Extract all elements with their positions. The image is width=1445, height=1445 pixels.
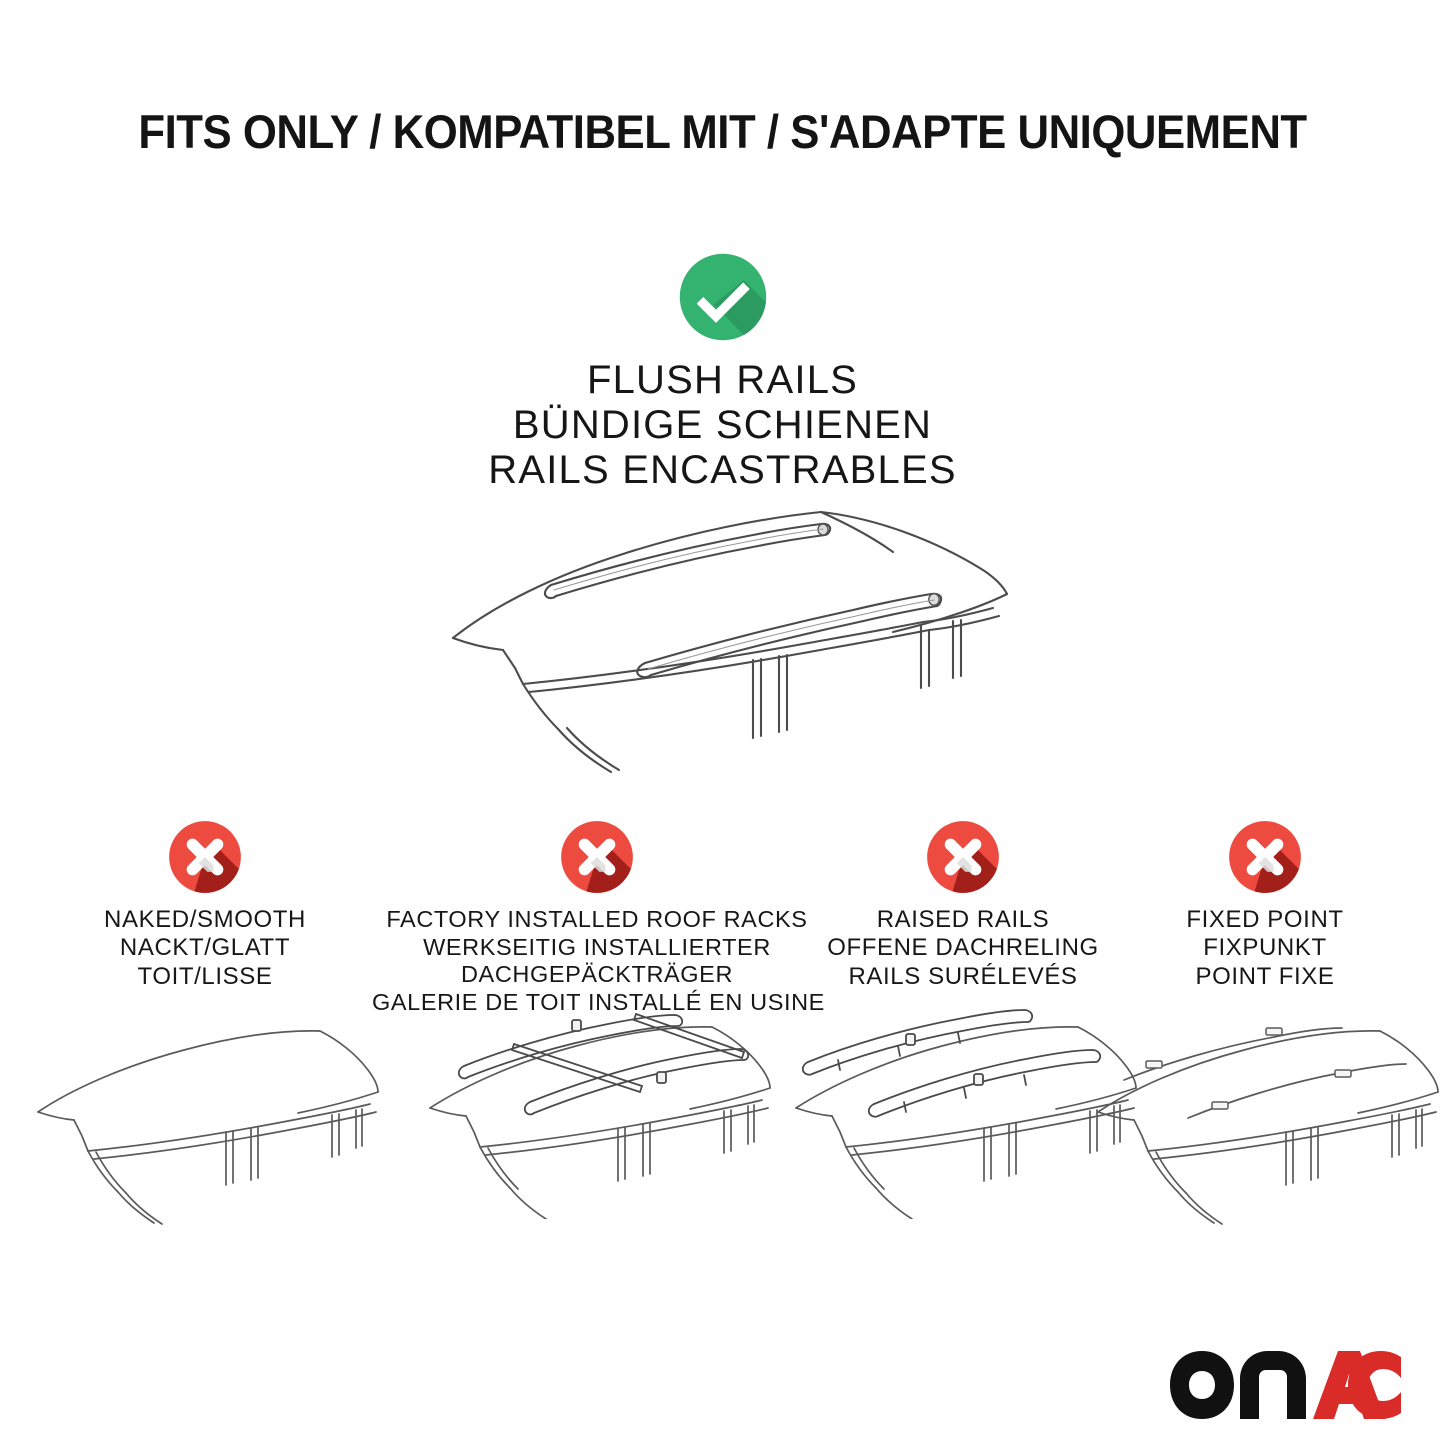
page-title: FITS ONLY / KOMPATIBEL MIT / S'ADAPTE UN… bbox=[51, 104, 1395, 159]
omac-logo-mark bbox=[1168, 1349, 1403, 1423]
red-x-circle-icon bbox=[166, 818, 244, 896]
label-line-3: DACHGEPÄCKTRÄGER bbox=[372, 961, 822, 989]
label-line-1: RAISED RAILS bbox=[818, 906, 1108, 934]
green-check-circle-icon bbox=[676, 250, 770, 344]
label-line-2: FIXPUNKT bbox=[1130, 934, 1400, 962]
car-roof-factory-roof-racks-illustration bbox=[412, 1004, 782, 1219]
incompatible-item-naked-smooth: NAKED/SMOOTH NACKT/GLATT TOIT/LISSE bbox=[25, 818, 385, 991]
label-line-2: WERKSEITIG INSTALLIERTER bbox=[372, 934, 822, 962]
label-line-1: NAKED/SMOOTH bbox=[25, 906, 385, 934]
compatible-label: FLUSH RAILS BÜNDIGE SCHIENEN RAILS ENCAS… bbox=[0, 358, 1445, 494]
logo-letter-m bbox=[1240, 1351, 1306, 1419]
incompatible-label-factory-roof-racks: FACTORY INSTALLED ROOF RACKS WERKSEITIG … bbox=[372, 906, 822, 1017]
label-line-3: RAILS SURÉLEVÉS bbox=[818, 963, 1108, 991]
incompatible-label-fixed-point: FIXED POINT FIXPUNKT POINT FIXE bbox=[1130, 906, 1400, 991]
label-line-3: POINT FIXE bbox=[1130, 963, 1400, 991]
incompatible-item-raised-rails: RAISED RAILS OFFENE DACHRELING RAILS SUR… bbox=[818, 818, 1108, 991]
car-roof-naked-smooth-illustration bbox=[20, 1014, 390, 1229]
label-line-2: OFFENE DACHRELING bbox=[818, 934, 1108, 962]
incompatible-item-fixed-point: FIXED POINT FIXPUNKT POINT FIXE bbox=[1130, 818, 1400, 991]
logo-letter-o bbox=[1170, 1351, 1234, 1419]
label-line-3: TOIT/LISSE bbox=[25, 963, 385, 991]
red-x-circle-icon bbox=[1226, 818, 1304, 896]
red-x-circle-icon bbox=[924, 818, 1002, 896]
compatible-label-line-1: FLUSH RAILS bbox=[0, 358, 1445, 403]
label-line-2: NACKT/GLATT bbox=[25, 934, 385, 962]
label-line-1: FACTORY INSTALLED ROOF RACKS bbox=[372, 906, 822, 934]
omac-logo bbox=[1168, 1349, 1403, 1423]
red-x-circle-icon bbox=[558, 818, 636, 896]
compatible-section: FLUSH RAILS BÜNDIGE SCHIENEN RAILS ENCAS… bbox=[0, 250, 1445, 494]
car-roof-fixed-point-illustration bbox=[1080, 1014, 1445, 1229]
incompatible-item-factory-roof-racks: FACTORY INSTALLED ROOF RACKS WERKSEITIG … bbox=[372, 818, 822, 1017]
car-roof-with-flush-rails-illustration bbox=[423, 478, 1023, 778]
fitment-chart-page: FITS ONLY / KOMPATIBEL MIT / S'ADAPTE UN… bbox=[0, 0, 1445, 1445]
incompatible-label-raised-rails: RAISED RAILS OFFENE DACHRELING RAILS SUR… bbox=[818, 906, 1108, 991]
incompatible-label-naked-smooth: NAKED/SMOOTH NACKT/GLATT TOIT/LISSE bbox=[25, 906, 385, 991]
label-line-1: FIXED POINT bbox=[1130, 906, 1400, 934]
compatible-label-line-2: BÜNDIGE SCHIENEN bbox=[0, 403, 1445, 448]
incompatible-section: NAKED/SMOOTH NACKT/GLATT TOIT/LISSE bbox=[0, 818, 1445, 1258]
